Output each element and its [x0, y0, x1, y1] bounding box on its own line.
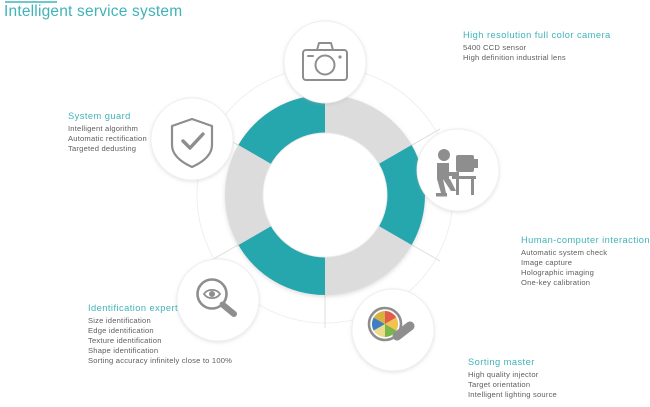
- detail-line: Size identification: [88, 316, 232, 326]
- detail-line: Texture identification: [88, 336, 232, 346]
- detail-line: Image capture: [521, 258, 650, 268]
- detail-line: Target orientation: [468, 380, 557, 390]
- detail-line: One-key calibration: [521, 278, 650, 288]
- node-circle-camera[interactable]: [284, 21, 366, 103]
- text-block-sorting-master: Sorting master High quality injector Tar…: [468, 357, 557, 400]
- text-block-identification-expert: Identification expert Size identificatio…: [88, 303, 232, 367]
- text-block-camera: High resolution full color camera 5400 C…: [463, 30, 611, 63]
- detail-line: Sorting accuracy infinitely close to 100…: [88, 356, 232, 366]
- detail-line: Holographic imaging: [521, 268, 650, 278]
- heading-hci: Human-computer interaction: [521, 235, 650, 245]
- detail-line: Edge identification: [88, 326, 232, 336]
- text-block-guard: System guard Intelligent algorithm Autom…: [68, 111, 147, 154]
- infographic-canvas: Intelligent service system: [0, 0, 650, 407]
- detail-line: Automatic system check: [521, 248, 650, 258]
- detail-line: Intelligent algorithm: [68, 124, 147, 134]
- detail-line: Intelligent lighting source: [468, 390, 557, 400]
- detail-line: Targeted dedusting: [68, 144, 147, 154]
- detail-line: High quality injector: [468, 370, 557, 380]
- heading-identification: Identification expert: [88, 303, 232, 313]
- text-block-human-computer-interaction: Human-computer interaction Automatic sys…: [521, 235, 650, 288]
- detail-line: High definition industrial lens: [463, 53, 611, 63]
- heading-sorting: Sorting master: [468, 357, 557, 367]
- heading-camera: High resolution full color camera: [463, 30, 611, 40]
- detail-line: 5400 CCD sensor: [463, 43, 611, 53]
- detail-line: Automatic rectification: [68, 134, 147, 144]
- donut-hub: [263, 133, 387, 257]
- detail-line: Shape identification: [88, 346, 232, 356]
- heading-guard: System guard: [68, 111, 147, 121]
